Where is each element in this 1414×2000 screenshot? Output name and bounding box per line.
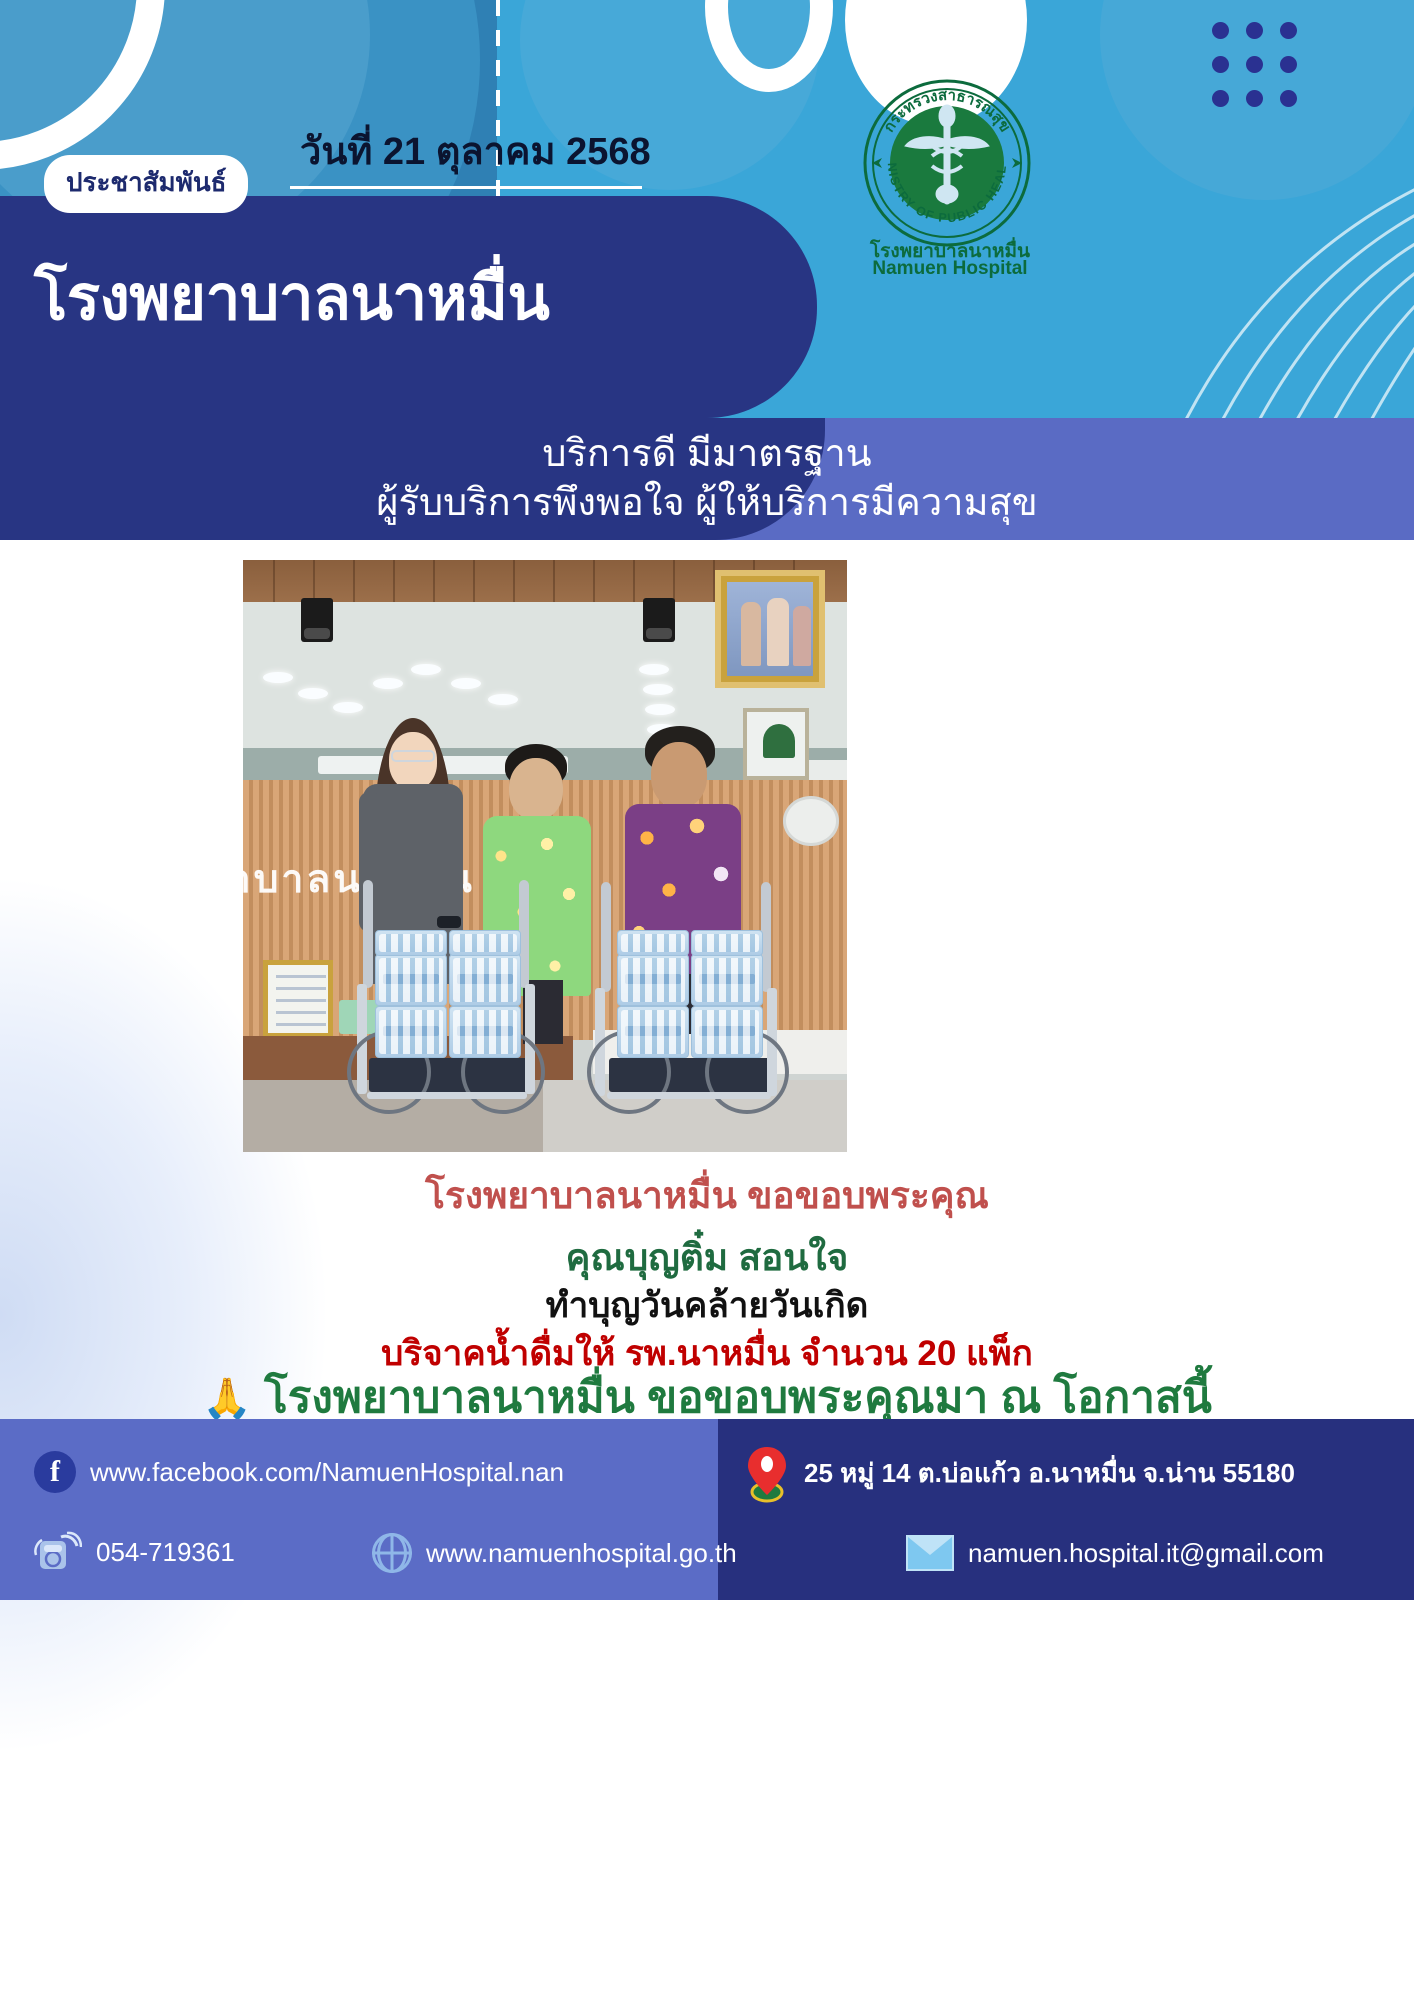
facebook-icon: f xyxy=(34,1451,76,1493)
footer-phone[interactable]: 054-719361 xyxy=(34,1531,235,1573)
poster-root: โรงพยาบาลนาหมื่น ประชาสัมพันธ์ วันที่ 21… xyxy=(0,0,1414,2000)
photo-downlight xyxy=(645,704,675,715)
photo-wheelchair-left xyxy=(349,880,555,1130)
page-title: โรงพยาบาลนาหมื่น xyxy=(34,266,794,331)
photo-wheelchair-right xyxy=(589,882,799,1132)
photo-spotlight-right xyxy=(643,598,675,642)
email-label: namuen.hospital.it@gmail.com xyxy=(968,1538,1324,1569)
moph-logo-icon: กระทรวงสาธารณสุข MINISTRY OF PUBLIC HEAL… xyxy=(862,78,1032,248)
address-label: 25 หมู่ 14 ต.บ่อแก้ว อ.นาหมื่น จ.น่าน 55… xyxy=(804,1453,1295,1494)
photo-downlight xyxy=(639,664,669,675)
pr-badge: ประชาสัมพันธ์ xyxy=(44,155,248,213)
decor-curved-lines xyxy=(1114,150,1414,418)
photo-downlight xyxy=(373,678,403,689)
envelope-icon xyxy=(906,1535,954,1571)
facebook-label: www.facebook.com/NamuenHospital.nan xyxy=(90,1457,564,1488)
photo-downlight xyxy=(298,688,328,699)
date-label: วันที่ 21 ตุลาคม 2568 xyxy=(300,120,651,181)
occasion-text: ทำบุญวันคล้ายวันเกิด xyxy=(0,1278,1414,1333)
footer-facebook[interactable]: f www.facebook.com/NamuenHospital.nan xyxy=(34,1451,564,1493)
photo-small-frame xyxy=(743,708,809,780)
thanks-headline: โรงพยาบาลนาหมื่น ขอขอบพระคุณ xyxy=(0,1166,1414,1225)
website-label: www.namuenhospital.go.th xyxy=(426,1538,737,1569)
photo-downlight xyxy=(488,694,518,705)
footer-website[interactable]: www.namuenhospital.go.th xyxy=(372,1533,737,1573)
photo-spotlight-left xyxy=(301,598,333,642)
photo-royal-portrait xyxy=(715,570,825,688)
telephone-icon xyxy=(34,1531,82,1573)
wai-hands-icon: 🙏 xyxy=(202,1377,252,1421)
map-pin-icon xyxy=(744,1443,790,1503)
footer-email[interactable]: namuen.hospital.it@gmail.com xyxy=(906,1535,1324,1571)
contact-footer: f www.facebook.com/NamuenHospital.nan 05… xyxy=(0,1419,1414,1600)
globe-icon xyxy=(372,1533,412,1573)
phone-label: 054-719361 xyxy=(96,1537,235,1568)
photo-downlight xyxy=(333,702,363,713)
date-underline xyxy=(290,186,642,189)
photo-downlight xyxy=(411,664,441,675)
closing-thanks-text: โรงพยาบาลนาหมื่น ขอขอบพระคุณมา ณ โอกาสนี… xyxy=(264,1373,1212,1422)
decor-dot-grid xyxy=(1212,22,1314,124)
footer-address: 25 หมู่ 14 ต.บ่อแก้ว อ.นาหมื่น จ.น่าน 55… xyxy=(744,1443,1295,1503)
photo-wall-fan xyxy=(783,796,839,846)
photo-downlight xyxy=(643,684,673,695)
slogan-line-2: ผู้รับบริการพึงพอใจ ผู้ให้บริการมีความสุ… xyxy=(0,479,1414,528)
photo-framed-notice xyxy=(263,960,333,1038)
photo-downlight xyxy=(451,678,481,689)
donation-photo: ยาบาลนาหมื่น xyxy=(243,560,847,1152)
logo-caption-en: Namuen Hospital xyxy=(855,258,1045,280)
slogan-text: บริการดี มีมาตรฐาน ผู้รับบริการพึงพอใจ ผ… xyxy=(0,430,1414,527)
photo-downlight xyxy=(263,672,293,683)
slogan-line-1: บริการดี มีมาตรฐาน xyxy=(0,430,1414,479)
